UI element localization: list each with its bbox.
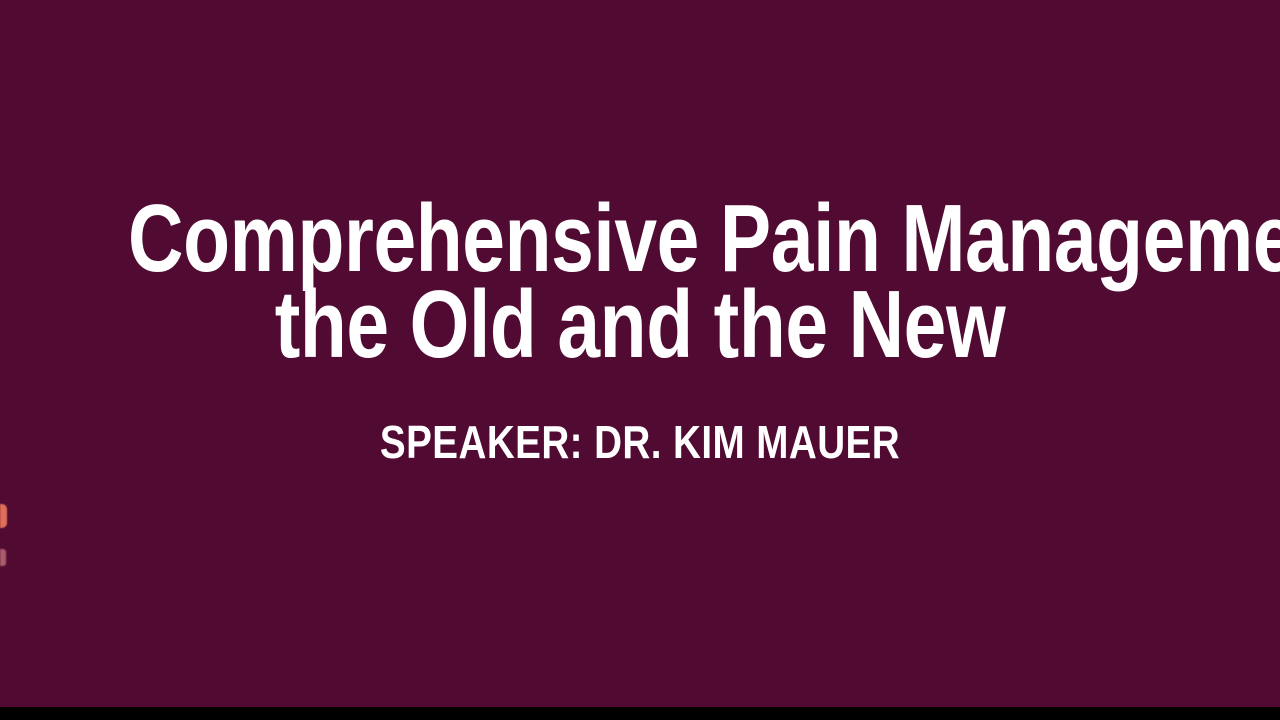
- left-edge-accent-mark-secondary: [0, 549, 6, 566]
- speaker-name-label: SPEAKER: DR. KIM MAUER: [102, 416, 1177, 468]
- left-edge-accent-mark-primary: [0, 504, 7, 528]
- letterbox-bar-bottom: [0, 707, 1280, 720]
- presentation-slide: Comprehensive Pain Management: the Old a…: [0, 0, 1280, 720]
- slide-title: Comprehensive Pain Management: the Old a…: [0, 196, 1280, 368]
- slide-subtitle-block: SPEAKER: DR. KIM MAUER: [0, 416, 1280, 468]
- slide-title-line-2: the Old and the New: [128, 282, 1152, 368]
- slide-title-line-1: Comprehensive Pain Management:: [128, 196, 1152, 282]
